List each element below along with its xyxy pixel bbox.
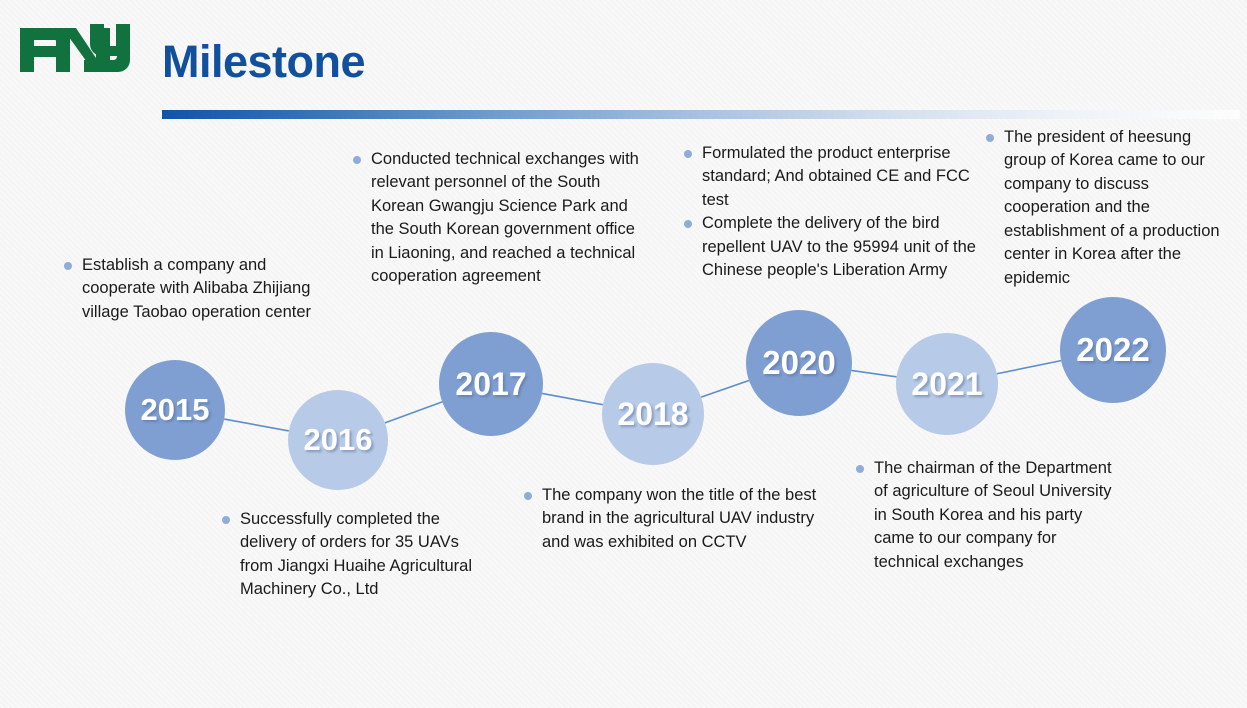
timeline-node-2020[interactable]: 2020 xyxy=(746,310,852,416)
bullet-icon xyxy=(684,150,692,158)
bullet-icon xyxy=(856,465,864,473)
bullet-icon xyxy=(222,516,230,524)
note-bullet-item: Complete the delivery of the bird repell… xyxy=(684,212,979,282)
bullet-icon xyxy=(986,134,994,142)
note-bullet-item: The company won the title of the best br… xyxy=(524,484,824,554)
timeline-node-2015[interactable]: 2015 xyxy=(125,360,225,460)
bullet-icon xyxy=(684,220,692,228)
milestone-timeline: 2015201620172018202020212022 Establish a… xyxy=(0,0,1247,708)
timeline-node-year-label: 2022 xyxy=(1076,331,1149,369)
connector-line-2017-2018 xyxy=(542,393,603,404)
note-text: The company won the title of the best br… xyxy=(542,486,816,551)
note-2018: The company won the title of the best br… xyxy=(524,484,824,554)
note-bullet-item: Formulated the product enterprise standa… xyxy=(684,142,979,212)
timeline-node-2016[interactable]: 2016 xyxy=(288,390,388,490)
timeline-node-2018[interactable]: 2018 xyxy=(602,363,704,465)
note-bullet-item: The chairman of the Department of agricu… xyxy=(856,457,1118,574)
note-text: Establish a company and cooperate with A… xyxy=(82,256,311,321)
note-text: Formulated the product enterprise standa… xyxy=(702,144,970,209)
connector-line-2018-2020 xyxy=(701,380,749,397)
connector-line-2020-2021 xyxy=(851,370,896,376)
note-2015: Establish a company and cooperate with A… xyxy=(64,254,314,324)
note-text: Successfully completed the delivery of o… xyxy=(240,510,472,598)
timeline-node-year-label: 2016 xyxy=(304,422,373,458)
timeline-node-2022[interactable]: 2022 xyxy=(1060,297,1166,403)
bullet-icon xyxy=(353,156,361,164)
note-2016: Successfully completed the delivery of o… xyxy=(222,508,492,602)
note-2021: The chairman of the Department of agricu… xyxy=(856,457,1118,574)
note-bullet-item: The president of heesung group of Korea … xyxy=(986,126,1230,290)
note-bullet-item: Successfully completed the delivery of o… xyxy=(222,508,492,602)
note-2020: Formulated the product enterprise standa… xyxy=(684,142,979,283)
note-bullet-item: Establish a company and cooperate with A… xyxy=(64,254,314,324)
timeline-node-year-label: 2017 xyxy=(455,366,526,403)
timeline-node-year-label: 2018 xyxy=(617,396,688,433)
note-text: Conducted technical exchanges with relev… xyxy=(371,150,639,285)
timeline-node-year-label: 2015 xyxy=(141,392,210,428)
connector-line-2016-2017 xyxy=(385,402,442,423)
timeline-node-2017[interactable]: 2017 xyxy=(439,332,543,436)
bullet-icon xyxy=(64,262,72,270)
connector-line-2021-2022 xyxy=(997,361,1061,374)
note-bullet-item: Conducted technical exchanges with relev… xyxy=(353,148,649,289)
note-text: The president of heesung group of Korea … xyxy=(1004,128,1220,287)
timeline-node-year-label: 2021 xyxy=(911,366,982,403)
connector-line-2015-2016 xyxy=(224,419,289,431)
timeline-node-year-label: 2020 xyxy=(762,344,835,382)
note-text: Complete the delivery of the bird repell… xyxy=(702,214,976,279)
timeline-node-2021[interactable]: 2021 xyxy=(896,333,998,435)
note-text: The chairman of the Department of agricu… xyxy=(874,459,1112,571)
note-2022: The president of heesung group of Korea … xyxy=(986,126,1230,290)
note-2017: Conducted technical exchanges with relev… xyxy=(353,148,649,289)
bullet-icon xyxy=(524,492,532,500)
